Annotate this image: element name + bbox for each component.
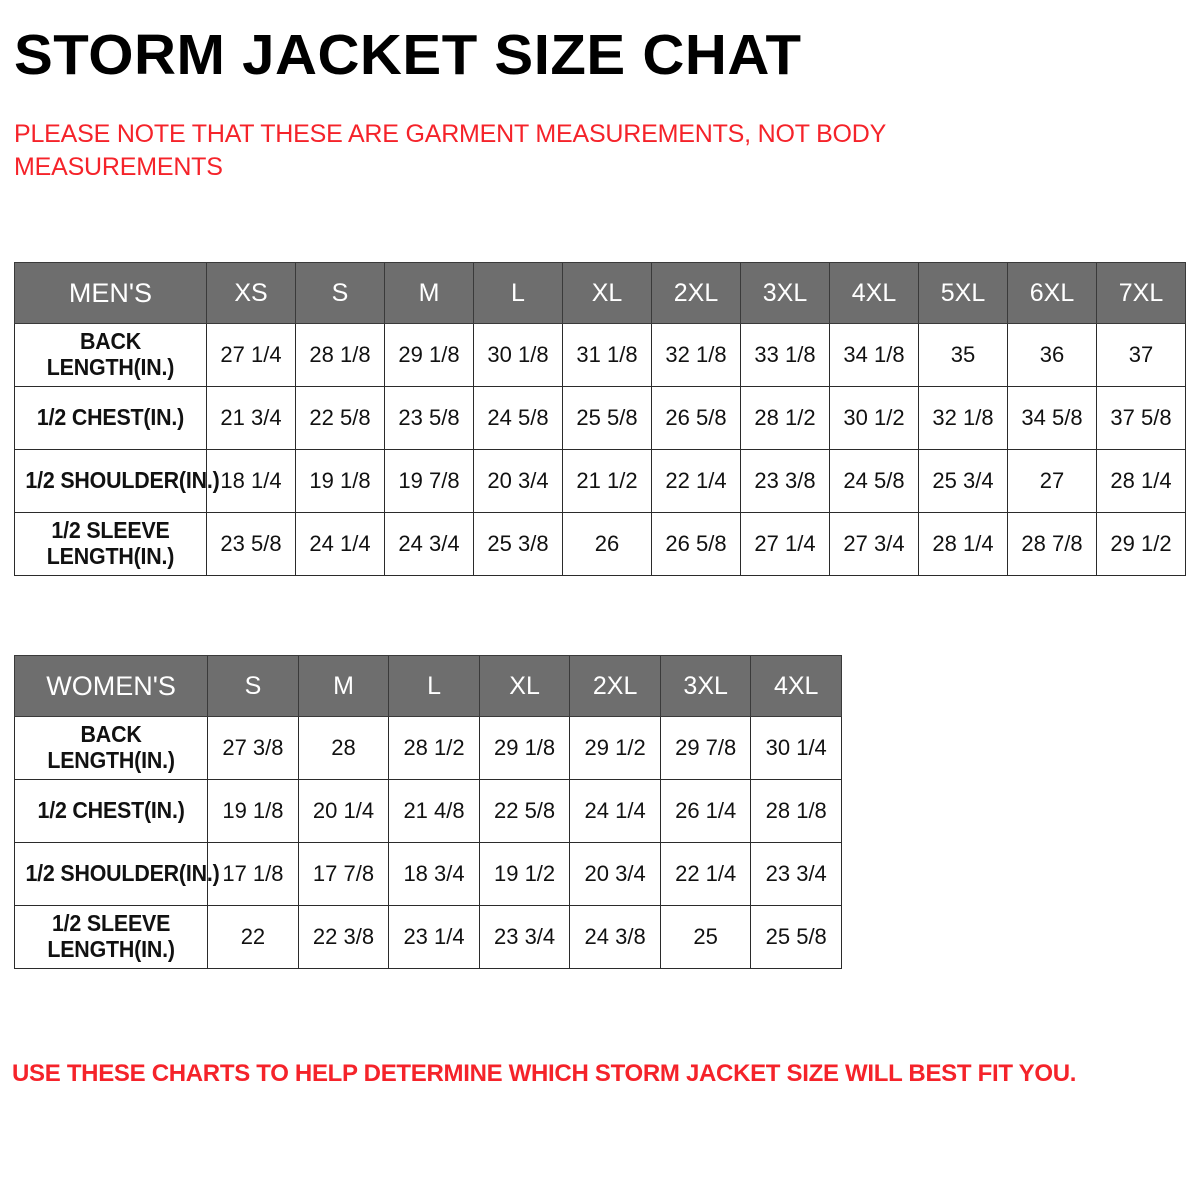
- measurement-cell: 29 1/2: [570, 717, 661, 780]
- table-row: 1/2 SHOULDER(IN.)18 1/419 1/819 7/820 3/…: [15, 450, 1186, 513]
- measurement-cell: 28 7/8: [1008, 513, 1097, 576]
- size-header-2xl: 2XL: [570, 656, 661, 717]
- mens-table-head: MEN'SXSSMLXL2XL3XL4XL5XL6XL7XL: [15, 263, 1186, 324]
- measurement-cell: 30 1/4: [751, 717, 842, 780]
- size-header-m: M: [385, 263, 474, 324]
- measurement-label-line: 1/2 CHEST(IN.): [25, 405, 195, 431]
- measurement-label: 1/2 SHOULDER(IN.): [15, 843, 208, 906]
- measurement-label-line: LENGTH(IN.): [25, 544, 195, 570]
- measurement-cell: 29 1/2: [1097, 513, 1186, 576]
- measurement-cell: 19 1/2: [479, 843, 570, 906]
- measurement-cell: 28 1/2: [741, 387, 830, 450]
- mens-category-label: MEN'S: [15, 263, 207, 324]
- measurement-cell: 18 1/4: [207, 450, 296, 513]
- measurement-cell: 26 5/8: [652, 387, 741, 450]
- measurement-cell: 31 1/8: [563, 324, 652, 387]
- measurement-cell: 22 5/8: [479, 780, 570, 843]
- measurement-cell: 26: [563, 513, 652, 576]
- size-header-xl: XL: [563, 263, 652, 324]
- size-header-s: S: [208, 656, 299, 717]
- womens-table-head: WOMEN'SSMLXL2XL3XL4XL: [15, 656, 842, 717]
- measurement-cell: 25 5/8: [751, 906, 842, 969]
- measurement-cell: 23 3/8: [741, 450, 830, 513]
- measurement-cell: 23 3/4: [479, 906, 570, 969]
- size-header-xs: XS: [207, 263, 296, 324]
- measurement-cell: 19 1/8: [296, 450, 385, 513]
- measurement-label-line: LENGTH(IN.): [25, 355, 195, 381]
- measurement-label: BACKLENGTH(IN.): [15, 717, 208, 780]
- size-header-l: L: [389, 656, 480, 717]
- measurement-cell: 18 3/4: [389, 843, 480, 906]
- table-row: 1/2 CHEST(IN.)21 3/422 5/823 5/824 5/825…: [15, 387, 1186, 450]
- measurement-cell: 24 1/4: [296, 513, 385, 576]
- mens-header-row: MEN'SXSSMLXL2XL3XL4XL5XL6XL7XL: [15, 263, 1186, 324]
- measurement-cell: 37 5/8: [1097, 387, 1186, 450]
- measurement-label: 1/2 CHEST(IN.): [15, 780, 208, 843]
- measurement-cell: 30 1/2: [830, 387, 919, 450]
- measurement-cell: 22 5/8: [296, 387, 385, 450]
- measurement-cell: 22: [208, 906, 299, 969]
- size-header-5xl: 5XL: [919, 263, 1008, 324]
- measurement-label-line: 1/2 SHOULDER(IN.): [25, 468, 195, 494]
- womens-table-body: BACKLENGTH(IN.)27 3/82828 1/229 1/829 1/…: [15, 717, 842, 969]
- measurement-cell: 29 7/8: [660, 717, 751, 780]
- measurement-cell: 29 1/8: [479, 717, 570, 780]
- measurement-cell: 28 1/4: [1097, 450, 1186, 513]
- table-row: BACKLENGTH(IN.)27 3/82828 1/229 1/829 1/…: [15, 717, 842, 780]
- mens-table-body: BACKLENGTH(IN.)27 1/428 1/829 1/830 1/83…: [15, 324, 1186, 576]
- measurement-cell: 37: [1097, 324, 1186, 387]
- measurement-cell: 22 1/4: [660, 843, 751, 906]
- measurement-cell: 28 1/2: [389, 717, 480, 780]
- page-title: STORM JACKET SIZE CHAT: [14, 26, 802, 86]
- measurement-cell: 28 1/4: [919, 513, 1008, 576]
- size-chart-page: STORM JACKET SIZE CHAT PLEASE NOTE THAT …: [0, 0, 1200, 1200]
- table-row: 1/2 SLEEVELENGTH(IN.)2222 3/823 1/423 3/…: [15, 906, 842, 969]
- measurement-cell: 28 1/8: [751, 780, 842, 843]
- measurement-label-line: BACK: [25, 722, 196, 748]
- measurement-cell: 22 1/4: [652, 450, 741, 513]
- measurement-label: 1/2 SLEEVELENGTH(IN.): [15, 513, 207, 576]
- measurement-cell: 27 1/4: [207, 324, 296, 387]
- measurement-cell: 24 3/4: [385, 513, 474, 576]
- measurement-cell: 24 5/8: [830, 450, 919, 513]
- measurement-label-line: 1/2 SHOULDER(IN.): [25, 861, 196, 887]
- table-row: 1/2 SLEEVELENGTH(IN.)23 5/824 1/424 3/42…: [15, 513, 1186, 576]
- measurement-label-line: LENGTH(IN.): [25, 748, 196, 774]
- size-header-l: L: [474, 263, 563, 324]
- measurement-cell: 19 7/8: [385, 450, 474, 513]
- size-header-2xl: 2XL: [652, 263, 741, 324]
- measurement-cell: 21 3/4: [207, 387, 296, 450]
- measurement-cell: 25 3/8: [474, 513, 563, 576]
- measurement-cell: 23 5/8: [385, 387, 474, 450]
- measurement-cell: 20 3/4: [474, 450, 563, 513]
- measurement-cell: 33 1/8: [741, 324, 830, 387]
- measurement-cell: 27 3/4: [830, 513, 919, 576]
- garment-measurement-note: PLEASE NOTE THAT THESE ARE GARMENT MEASU…: [14, 118, 1014, 184]
- size-header-4xl: 4XL: [751, 656, 842, 717]
- measurement-cell: 32 1/8: [652, 324, 741, 387]
- table-row: BACKLENGTH(IN.)27 1/428 1/829 1/830 1/83…: [15, 324, 1186, 387]
- measurement-label: BACKLENGTH(IN.): [15, 324, 207, 387]
- measurement-cell: 29 1/8: [385, 324, 474, 387]
- measurement-cell: 26 5/8: [652, 513, 741, 576]
- measurement-cell: 28 1/8: [296, 324, 385, 387]
- size-header-3xl: 3XL: [660, 656, 751, 717]
- size-header-xl: XL: [479, 656, 570, 717]
- measurement-cell: 28: [298, 717, 389, 780]
- size-header-m: M: [298, 656, 389, 717]
- size-header-7xl: 7XL: [1097, 263, 1186, 324]
- measurement-cell: 27: [1008, 450, 1097, 513]
- measurement-label: 1/2 CHEST(IN.): [15, 387, 207, 450]
- table-row: 1/2 SHOULDER(IN.)17 1/817 7/818 3/419 1/…: [15, 843, 842, 906]
- measurement-label-line: LENGTH(IN.): [25, 937, 196, 963]
- womens-header-row: WOMEN'SSMLXL2XL3XL4XL: [15, 656, 842, 717]
- measurement-cell: 24 1/4: [570, 780, 661, 843]
- measurement-cell: 21 1/2: [563, 450, 652, 513]
- measurement-cell: 23 5/8: [207, 513, 296, 576]
- measurement-label-line: 1/2 CHEST(IN.): [25, 798, 196, 824]
- measurement-cell: 23 3/4: [751, 843, 842, 906]
- measurement-label-line: 1/2 SLEEVE: [25, 911, 196, 937]
- measurement-label-line: BACK: [25, 329, 195, 355]
- measurement-cell: 24 3/8: [570, 906, 661, 969]
- measurement-cell: 17 7/8: [298, 843, 389, 906]
- measurement-cell: 23 1/4: [389, 906, 480, 969]
- size-header-4xl: 4XL: [830, 263, 919, 324]
- womens-category-label: WOMEN'S: [15, 656, 208, 717]
- measurement-cell: 32 1/8: [919, 387, 1008, 450]
- fit-guidance-note: USE THESE CHARTS TO HELP DETERMINE WHICH…: [12, 1058, 1172, 1089]
- table-row: 1/2 CHEST(IN.)19 1/820 1/421 4/822 5/824…: [15, 780, 842, 843]
- measurement-cell: 35: [919, 324, 1008, 387]
- measurement-cell: 36: [1008, 324, 1097, 387]
- measurement-cell: 21 4/8: [389, 780, 480, 843]
- measurement-label: 1/2 SHOULDER(IN.): [15, 450, 207, 513]
- mens-size-table: MEN'SXSSMLXL2XL3XL4XL5XL6XL7XL BACKLENGT…: [14, 262, 1186, 576]
- measurement-cell: 27 3/8: [208, 717, 299, 780]
- size-header-3xl: 3XL: [741, 263, 830, 324]
- measurement-cell: 17 1/8: [208, 843, 299, 906]
- measurement-cell: 27 1/4: [741, 513, 830, 576]
- measurement-cell: 30 1/8: [474, 324, 563, 387]
- womens-size-table: WOMEN'SSMLXL2XL3XL4XL BACKLENGTH(IN.)27 …: [14, 655, 842, 969]
- measurement-cell: 20 1/4: [298, 780, 389, 843]
- size-header-s: S: [296, 263, 385, 324]
- measurement-cell: 25 3/4: [919, 450, 1008, 513]
- measurement-cell: 34 5/8: [1008, 387, 1097, 450]
- measurement-label: 1/2 SLEEVELENGTH(IN.): [15, 906, 208, 969]
- measurement-cell: 25: [660, 906, 751, 969]
- measurement-cell: 22 3/8: [298, 906, 389, 969]
- measurement-cell: 34 1/8: [830, 324, 919, 387]
- measurement-cell: 26 1/4: [660, 780, 751, 843]
- size-header-6xl: 6XL: [1008, 263, 1097, 324]
- measurement-label-line: 1/2 SLEEVE: [25, 518, 195, 544]
- measurement-cell: 24 5/8: [474, 387, 563, 450]
- measurement-cell: 25 5/8: [563, 387, 652, 450]
- measurement-cell: 19 1/8: [208, 780, 299, 843]
- measurement-cell: 20 3/4: [570, 843, 661, 906]
